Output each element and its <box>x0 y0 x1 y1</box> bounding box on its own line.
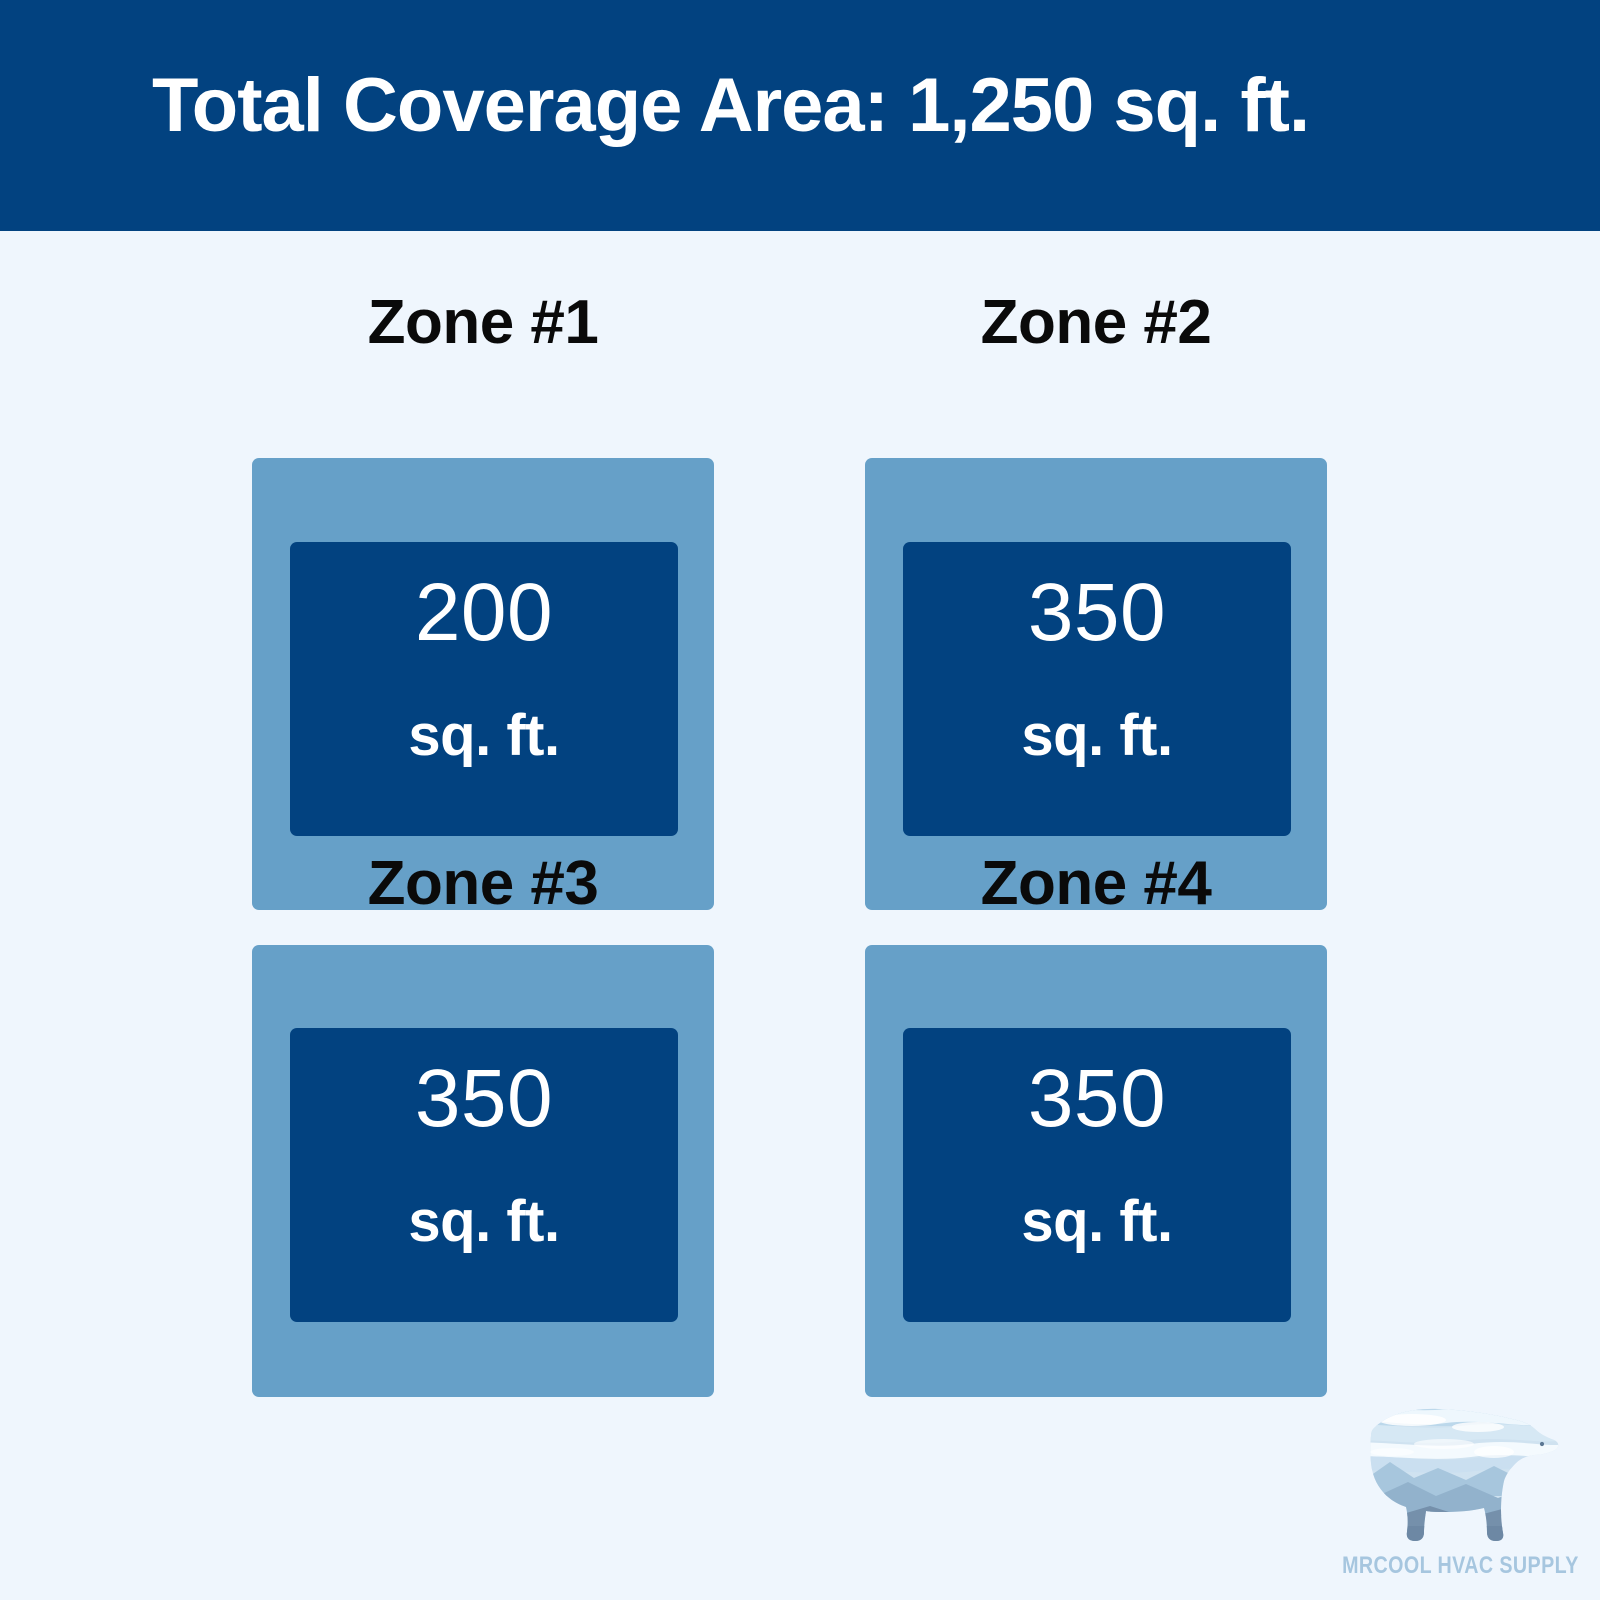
zone-label-4: Zone #4 <box>865 853 1327 925</box>
zone-card-3: 350 sq. ft. <box>252 945 714 1397</box>
zone-area-unit-2: sq. ft. <box>903 707 1291 765</box>
brand-wordmark: MRCOOL HVAC SUPPLY <box>1342 1552 1562 1580</box>
zone-area-value-3: 350 <box>290 1058 678 1140</box>
zone-area-box-2: 350 sq. ft. <box>903 542 1291 836</box>
zone-area-box-1: 200 sq. ft. <box>290 542 678 836</box>
zone-block-1: Zone #1 200 sq. ft. <box>252 292 714 910</box>
polar-bear-icon <box>1326 1400 1566 1550</box>
zone-area-unit-1: sq. ft. <box>290 707 678 765</box>
zone-grid: Zone #1 200 sq. ft. Zone #2 350 sq. ft. … <box>0 231 1600 1600</box>
zone-block-3: Zone #3 350 sq. ft. <box>252 853 714 1397</box>
zone-block-4: Zone #4 350 sq. ft. <box>865 853 1327 1397</box>
zone-area-value-2: 350 <box>903 572 1291 654</box>
zone-card-2: 350 sq. ft. <box>865 458 1327 910</box>
zone-label-2: Zone #2 <box>865 292 1327 364</box>
zone-area-box-3: 350 sq. ft. <box>290 1028 678 1322</box>
page-title: Total Coverage Area: 1,250 sq. ft. <box>152 66 1309 146</box>
zone-label-1: Zone #1 <box>252 292 714 364</box>
brand-logo: MRCOOL HVAC SUPPLY <box>1318 1400 1586 1588</box>
header-band: Total Coverage Area: 1,250 sq. ft. <box>0 0 1600 231</box>
zone-card-4: 350 sq. ft. <box>865 945 1327 1397</box>
zone-label-3: Zone #3 <box>252 853 714 925</box>
zone-area-value-4: 350 <box>903 1058 1291 1140</box>
zone-block-2: Zone #2 350 sq. ft. <box>865 292 1327 910</box>
zone-card-1: 200 sq. ft. <box>252 458 714 910</box>
zone-area-unit-3: sq. ft. <box>290 1193 678 1251</box>
zone-area-unit-4: sq. ft. <box>903 1193 1291 1251</box>
zone-area-box-4: 350 sq. ft. <box>903 1028 1291 1322</box>
zone-area-value-1: 200 <box>290 572 678 654</box>
